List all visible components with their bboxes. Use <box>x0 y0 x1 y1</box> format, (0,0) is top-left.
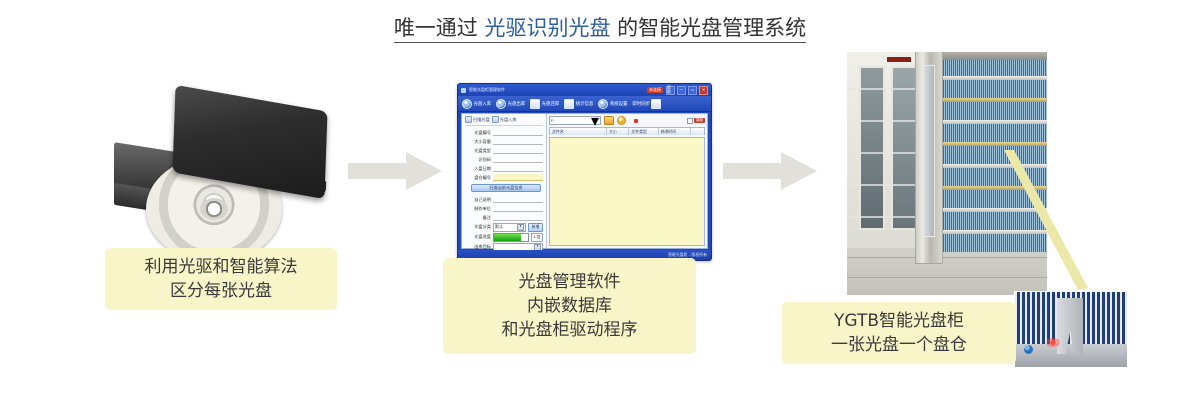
caption-right: YGTB智能光盘柜 一张光盘一个盘仓 <box>782 302 1016 364</box>
insert-icon <box>492 116 499 123</box>
app-window-title: 智能光盘柜管理软件 <box>469 87 505 93</box>
left-glass-panel-2 <box>891 66 917 230</box>
side-tab-strip: 扫描光盘 光盘入库 <box>465 116 543 126</box>
field-label: 盘仓编号 <box>465 175 491 181</box>
field-label: 识别码 <box>465 157 491 163</box>
arrow-right-icon-1 <box>348 152 442 190</box>
side-tab-scan[interactable]: 扫描光盘 <box>465 116 490 123</box>
progress-label: 光盘进度 <box>465 234 491 240</box>
field-label: 制作单位 <box>465 206 491 212</box>
side-tab-label: 光盘入库 <box>500 117 517 123</box>
maximize-button[interactable]: ▫ <box>688 86 697 95</box>
form-row-disc-type: 光盘类型 <box>465 147 543 154</box>
app-titlebar: 智能光盘柜管理软件 未连接 帮助 — ▫ ✕ <box>458 84 711 96</box>
form-row-remark: 备注 <box>465 214 543 221</box>
column-header-modified[interactable]: 修改时间 <box>659 128 692 135</box>
column-header-size[interactable]: 大小 <box>607 128 629 135</box>
caption-right-line-1: YGTB智能光盘柜 <box>834 309 964 333</box>
caption-middle-line-2: 内嵌数据库 <box>527 294 612 318</box>
remark-input[interactable] <box>493 214 543 221</box>
slot-number-input[interactable] <box>493 174 543 181</box>
caption-left-line-1: 利用光驱和智能算法 <box>145 255 298 279</box>
toolbar-label: 统计信息 <box>576 101 594 107</box>
path-toolbar: F: ▾ 录制 <box>549 116 705 125</box>
close-button[interactable]: ✕ <box>699 86 708 95</box>
toolbar-label: 光盘还库 <box>542 101 560 107</box>
column-header-extra[interactable] <box>691 128 704 135</box>
layer-stepper[interactable]: 1 层 <box>531 233 543 242</box>
cabinet-top-panel <box>939 52 1047 60</box>
toolbar-label: 即时同步 <box>632 101 650 107</box>
toolbar-label: 光盘出库 <box>508 101 526 107</box>
toolbar-settings[interactable]: 系统设置 <box>596 98 629 110</box>
app-toolbar: 光盘入库 光盘出库 光盘还库 统计信息 系统设置 即时同步 <box>458 96 711 112</box>
caption-middle: 光盘管理软件 内嵌数据库 和光盘柜驱动程序 <box>443 258 696 354</box>
record-checkbox[interactable] <box>687 118 693 124</box>
cabinet-left-unit <box>847 52 921 248</box>
cabinet-open-door[interactable] <box>915 52 943 264</box>
form-row-disc-id: 光盘编号 <box>465 129 543 136</box>
record-dot-icon <box>634 119 638 123</box>
app-body: 扫描光盘 光盘入库 光盘编号 大小容量 光盘类型 <box>461 113 708 249</box>
form-row-category: 光盘分类 默认 ▾ 新增 <box>465 223 543 231</box>
toolbar-label: 系统设置 <box>610 101 628 107</box>
drive-select[interactable]: F: ▾ <box>549 116 601 125</box>
door-glass-pane <box>923 65 935 237</box>
form-row-progress: 光盘进度 1 层 <box>465 233 543 241</box>
toolbar-disc-in[interactable]: 光盘入库 <box>460 98 493 110</box>
app-logo-icon <box>461 88 466 93</box>
star-icon[interactable] <box>617 116 626 125</box>
toolbar-sync[interactable]: 即时同步 <box>630 98 663 110</box>
caption-middle-line-1: 光盘管理软件 <box>519 270 621 294</box>
record-toggle[interactable]: 录制 <box>687 118 705 124</box>
file-list-body[interactable] <box>549 137 705 246</box>
record-tag: 录制 <box>694 118 705 123</box>
capacity-input[interactable] <box>493 138 543 145</box>
blue-sensor-dot <box>1024 345 1033 354</box>
left-glass-panel-1 <box>859 66 885 230</box>
connection-status-badge: 未连接 <box>647 87 663 93</box>
progress-bar <box>493 233 529 242</box>
field-label: 备注 <box>465 215 491 221</box>
column-header-filename[interactable]: 文件名 <box>550 128 607 135</box>
gear-icon <box>598 99 608 109</box>
cabinet-label-plate <box>887 57 911 62</box>
add-category-button[interactable]: 新增 <box>528 223 543 232</box>
toolbar-label: 光盘入库 <box>474 101 492 107</box>
field-label: 光盘类型 <box>465 148 491 154</box>
file-list-header: 文件名 大小 文件类型 修改时间 <box>549 127 705 135</box>
category-label: 光盘分类 <box>465 224 491 230</box>
title-highlight: 光驱识别光盘 <box>485 16 611 43</box>
toolbar-stats[interactable]: 统计信息 <box>562 98 595 110</box>
disc-management-software-window: 智能光盘柜管理软件 未连接 帮助 — ▫ ✕ 光盘入库 光盘出库 光盘还库 <box>457 83 712 261</box>
field-label: 大小容量 <box>465 139 491 145</box>
sync-icon <box>651 99 661 109</box>
field-label: 光盘编号 <box>465 130 491 136</box>
caption-left-line-2: 区分每张光盘 <box>170 279 272 303</box>
toolbar-disc-return[interactable]: 光盘还库 <box>528 98 561 110</box>
form-row-date: 入盘日期 <box>465 165 543 172</box>
title-prefix: 唯一通过 <box>394 16 485 43</box>
identifier-input[interactable] <box>493 156 543 163</box>
scan-disc-button[interactable]: 扫描当前光盘信息 <box>471 184 541 192</box>
page-title: 唯一通过 光驱识别光盘 的智能光盘管理系统 <box>0 14 1200 42</box>
form-row-identifier: 识别码 <box>465 156 543 163</box>
folder-icon[interactable] <box>604 116 614 125</box>
dvd-drive-photo <box>112 96 328 222</box>
description-input[interactable] <box>493 196 543 203</box>
side-tab-insert[interactable]: 光盘入库 <box>492 116 517 123</box>
red-led-indicator <box>1045 338 1061 347</box>
column-header-filetype[interactable]: 文件类型 <box>629 128 658 135</box>
disc-id-input[interactable] <box>493 129 543 136</box>
drive-value: F: <box>551 118 554 123</box>
chevron-down-icon: ▾ <box>517 224 524 231</box>
form-row-capacity: 大小容量 <box>465 138 543 145</box>
field-label: 入盘日期 <box>465 166 491 172</box>
scan-icon <box>465 116 472 123</box>
category-select[interactable]: 默认 ▾ <box>493 223 526 232</box>
form-row-description: 自己说明 <box>465 196 543 203</box>
minimize-button[interactable]: — <box>677 86 686 95</box>
disc-slot-detail-inset <box>1014 291 1128 368</box>
field-label: 自己说明 <box>465 197 491 203</box>
insert-date-input[interactable] <box>493 165 543 172</box>
left-form-panel: 扫描光盘 光盘入库 光盘编号 大小容量 光盘类型 <box>462 114 547 248</box>
title-suffix: 的智能光盘管理系统 <box>611 16 807 43</box>
producer-input[interactable] <box>493 205 543 212</box>
help-button[interactable]: 帮助 <box>666 86 675 95</box>
disc-out-icon <box>496 99 506 109</box>
arrow-right-icon-2 <box>723 152 817 190</box>
side-tab-label: 扫描光盘 <box>473 117 490 123</box>
stats-icon <box>564 99 574 109</box>
form-row-producer: 制作单位 <box>465 205 543 212</box>
caption-left: 利用光驱和智能算法 区分每张光盘 <box>105 248 337 310</box>
disc-hub <box>200 198 228 220</box>
caption-right-line-2: 一张光盘一个盘仓 <box>831 333 967 357</box>
slide-canvas: 唯一通过 光驱识别光盘 的智能光盘管理系统 智能光盘柜管理软件 未连接 帮助 —… <box>0 0 1200 400</box>
disc-return-icon <box>530 99 540 109</box>
file-browser-panel: F: ▾ 录制 文件名 大小 文件类型 修改时间 <box>547 114 707 248</box>
caption-middle-line-3: 和光盘柜驱动程序 <box>502 318 638 342</box>
window-controls: 帮助 — ▫ ✕ <box>666 86 708 95</box>
category-value: 默认 <box>495 224 503 230</box>
disc-type-input[interactable] <box>493 147 543 154</box>
toolbar-disc-out[interactable]: 光盘出库 <box>494 98 527 110</box>
form-row-slot: 盘仓编号 <box>465 174 543 181</box>
callout-leader-line <box>1000 150 1090 295</box>
disc-in-icon <box>462 99 472 109</box>
